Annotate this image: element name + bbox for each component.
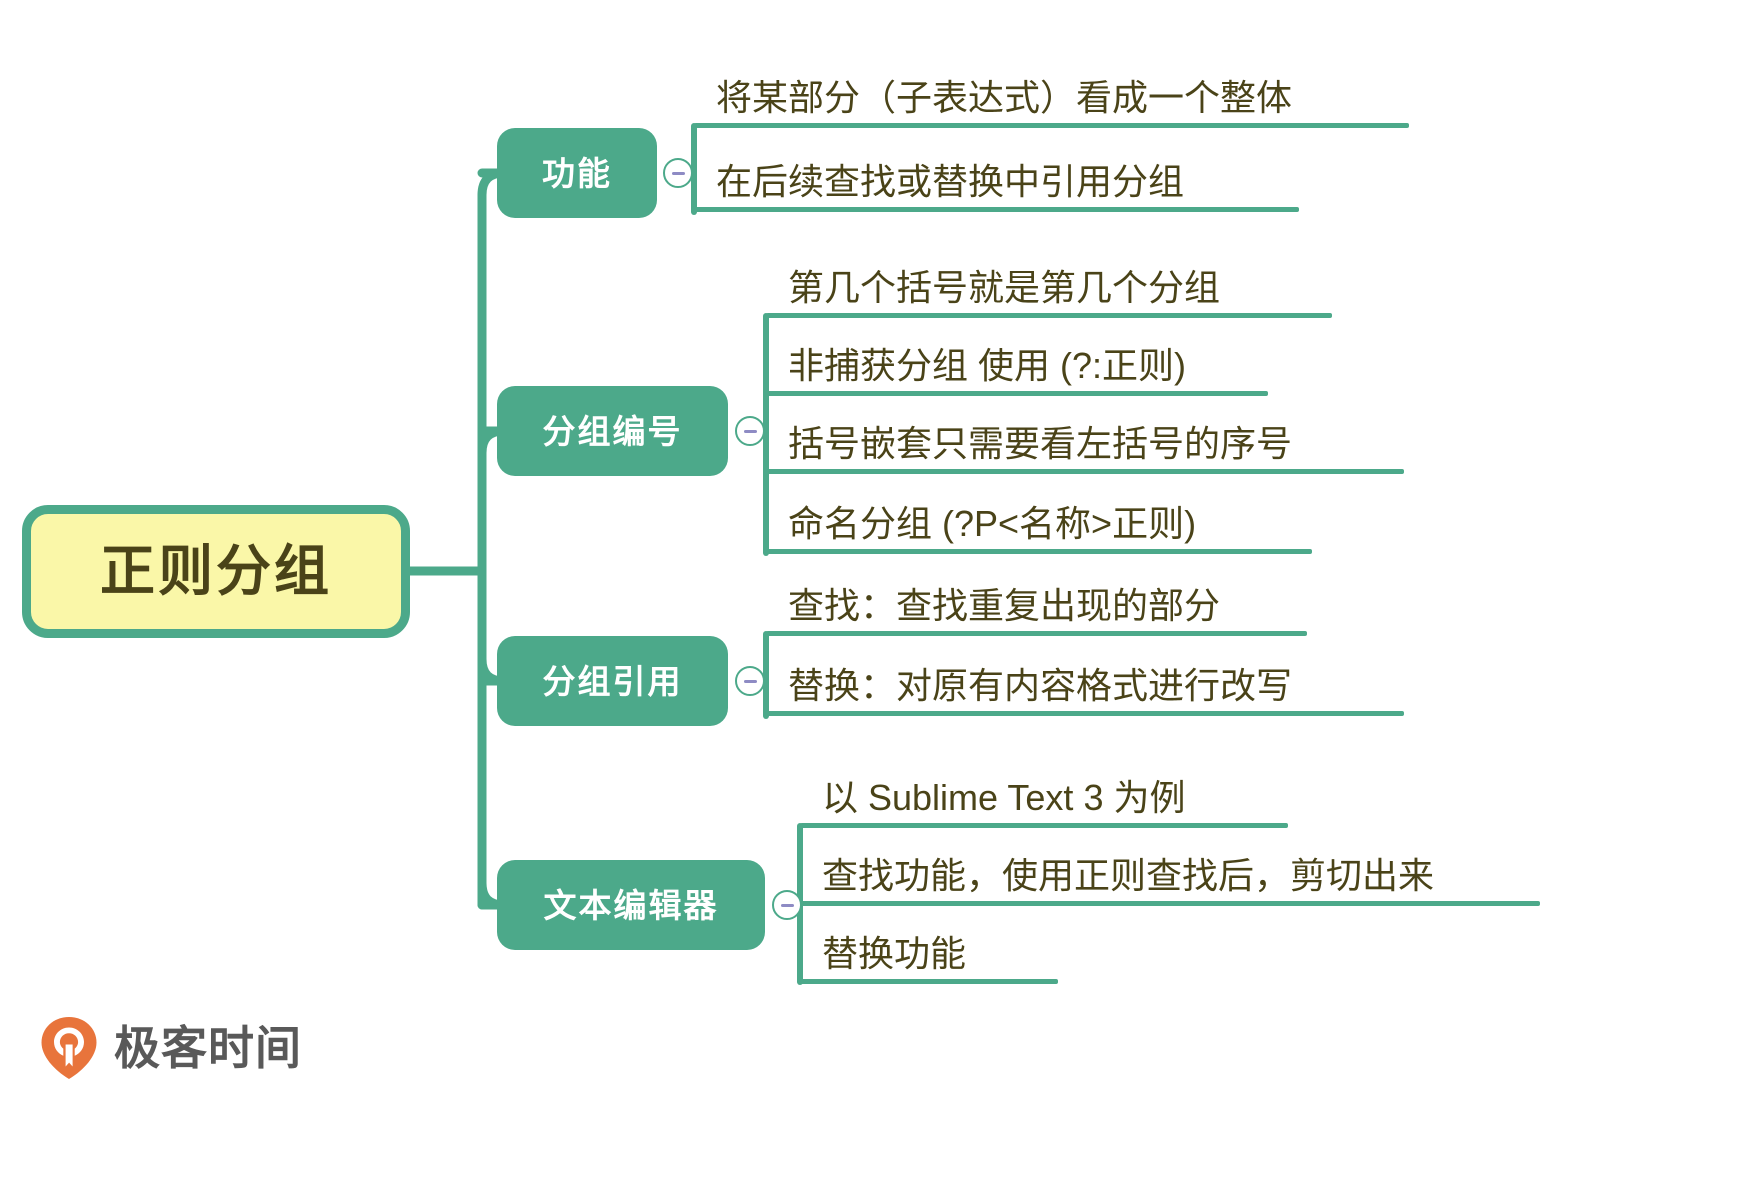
branch-label-group-reference: 分组引用 — [543, 665, 683, 698]
leaf-text: 以 Sublime Text 3 为例 — [800, 779, 1288, 823]
leaf-underline — [800, 979, 1058, 984]
minus-icon — [781, 904, 794, 907]
leaf-item[interactable]: 在后续查找或替换中引用分组 — [694, 152, 1299, 212]
leaf-text: 非捕获分组 使用 (?:正则) — [766, 347, 1268, 391]
minus-icon — [744, 680, 757, 683]
leaf-item[interactable]: 非捕获分组 使用 (?:正则) — [766, 338, 1268, 396]
geektime-logo-text: 极客时间 — [114, 1025, 302, 1071]
mindmap-canvas: 正则分组 功能 将某部分（子表达式）看成一个整体 在后续查找或替换中引用分组 分… — [0, 0, 1740, 1186]
branch-node-group-number[interactable]: 分组编号 — [497, 386, 728, 476]
leaf-text: 括号嵌套只需要看左括号的序号 — [766, 425, 1404, 469]
branch-label-text-editor: 文本编辑器 — [544, 889, 719, 922]
leaf-underline — [694, 207, 1299, 212]
leaf-underline — [766, 313, 1332, 318]
leaf-underline — [766, 711, 1404, 716]
leaf-underline — [800, 823, 1288, 828]
leaf-item[interactable]: 括号嵌套只需要看左括号的序号 — [766, 416, 1404, 474]
leaf-underline — [766, 391, 1268, 396]
root-node[interactable]: 正则分组 — [22, 505, 410, 638]
leaf-item[interactable]: 查找功能，使用正则查找后，剪切出来 — [800, 848, 1540, 906]
leaf-underline — [800, 901, 1540, 906]
collapse-toggle-group-number[interactable] — [735, 416, 765, 446]
leaf-text: 命名分组 (?P<名称>正则) — [766, 505, 1312, 549]
leaf-underline — [766, 469, 1404, 474]
leaf-item[interactable]: 查找：查找重复出现的部分 — [766, 578, 1307, 636]
leaf-text: 替换功能 — [800, 935, 1058, 979]
leaf-text: 查找：查找重复出现的部分 — [766, 587, 1307, 631]
collapse-toggle-function[interactable] — [663, 158, 693, 188]
leaf-text: 将某部分（子表达式）看成一个整体 — [694, 79, 1409, 123]
leaf-item[interactable]: 以 Sublime Text 3 为例 — [800, 770, 1288, 828]
leaf-item[interactable]: 第几个括号就是第几个分组 — [766, 260, 1332, 318]
branch-label-group-number: 分组编号 — [543, 415, 683, 448]
leaf-text: 替换：对原有内容格式进行改写 — [766, 667, 1404, 711]
minus-icon — [744, 430, 757, 433]
leaf-item[interactable]: 将某部分（子表达式）看成一个整体 — [694, 70, 1409, 128]
leaf-underline — [694, 123, 1409, 128]
leaf-underline — [766, 549, 1312, 554]
collapse-toggle-group-reference[interactable] — [735, 666, 765, 696]
leaf-text: 查找功能，使用正则查找后，剪切出来 — [800, 857, 1540, 901]
root-label: 正则分组 — [100, 544, 332, 599]
leaf-text: 在后续查找或替换中引用分组 — [694, 163, 1299, 207]
collapse-toggle-text-editor[interactable] — [772, 890, 802, 920]
leaf-underline — [766, 631, 1307, 636]
geektime-pin-icon — [38, 1015, 100, 1081]
leaf-item[interactable]: 替换功能 — [800, 926, 1058, 984]
geektime-logo: 极客时间 — [38, 1015, 302, 1081]
branch-node-group-reference[interactable]: 分组引用 — [497, 636, 728, 726]
leaf-item[interactable]: 命名分组 (?P<名称>正则) — [766, 496, 1312, 554]
leaf-item[interactable]: 替换：对原有内容格式进行改写 — [766, 658, 1404, 716]
branch-node-function[interactable]: 功能 — [497, 128, 657, 218]
leaf-text: 第几个括号就是第几个分组 — [766, 269, 1332, 313]
minus-icon — [672, 172, 685, 175]
branch-label-function: 功能 — [542, 157, 612, 190]
branch-node-text-editor[interactable]: 文本编辑器 — [497, 860, 765, 950]
